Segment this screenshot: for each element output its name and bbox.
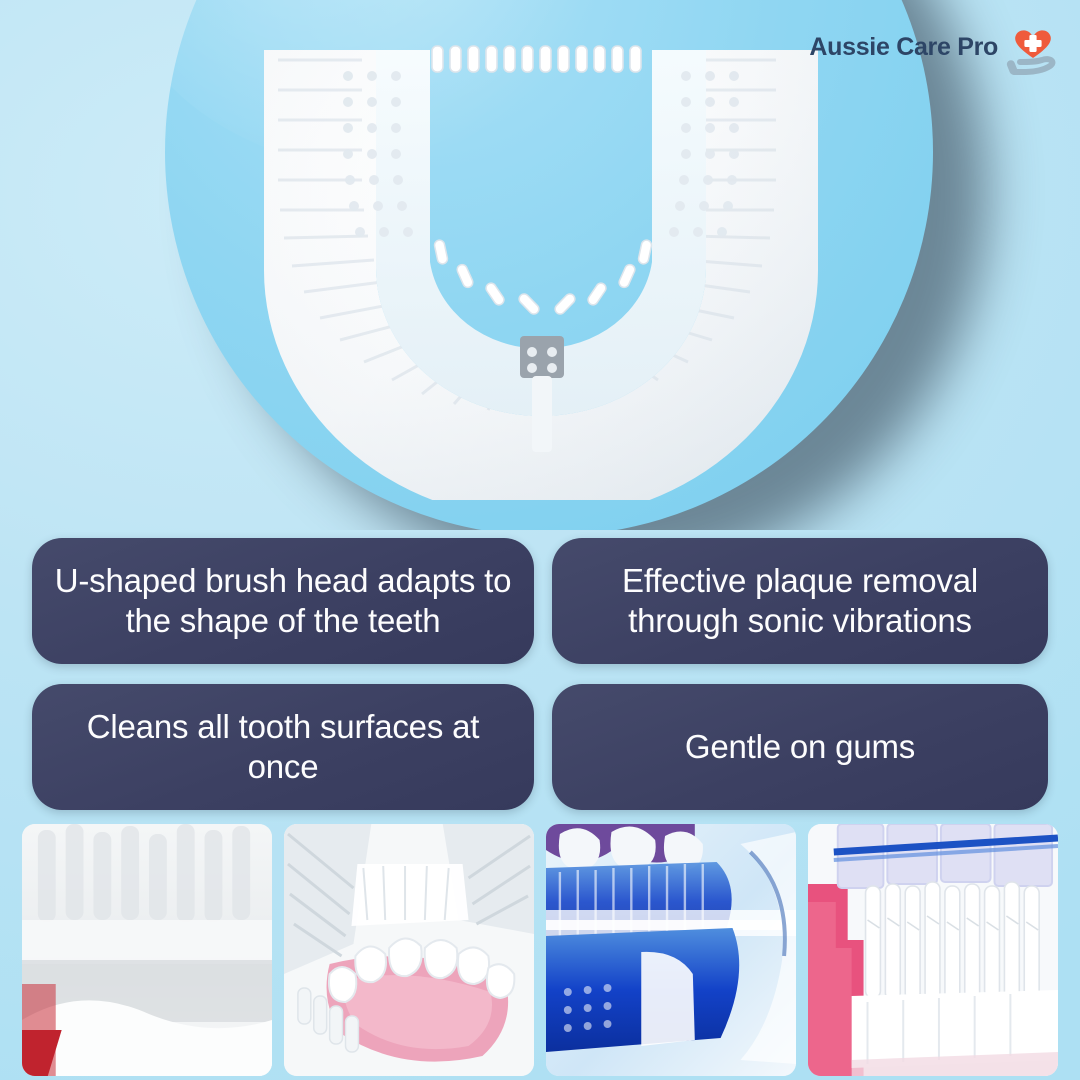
gallery-thumb-3[interactable] xyxy=(546,824,796,1076)
gallery-thumb-2[interactable] xyxy=(284,824,534,1076)
product-infographic: Aussie Care Pro U-shaped brush head adap… xyxy=(0,0,1080,1080)
feature-card-4[interactable]: Gentle on gums xyxy=(552,684,1048,810)
feature-label-4: Gentle on gums xyxy=(685,727,915,767)
feature-list: U-shaped brush head adapts to the shape … xyxy=(32,538,1048,810)
brand-name: Aussie Care Pro xyxy=(809,33,998,62)
blue-sonic-brush-icon xyxy=(546,824,796,1076)
bristles-macro-icon xyxy=(808,824,1058,1076)
brush-connector xyxy=(520,336,564,378)
brush-head-closeup-washed-icon xyxy=(22,824,272,1076)
feature-label-3: Cleans all tooth surfaces at once xyxy=(54,707,512,786)
feature-card-1[interactable]: U-shaped brush head adapts to the shape … xyxy=(32,538,534,664)
gallery-strip xyxy=(22,824,1058,1076)
dental-model-teeth-icon xyxy=(284,824,534,1076)
heart-in-hand-icon xyxy=(1006,20,1060,78)
brush-inner-teeth xyxy=(432,46,641,72)
feature-card-3[interactable]: Cleans all tooth surfaces at once xyxy=(32,684,534,810)
feature-label-2: Effective plaque removal through sonic v… xyxy=(574,561,1026,640)
feature-card-2[interactable]: Effective plaque removal through sonic v… xyxy=(552,538,1048,664)
cross-horizontal xyxy=(1024,40,1041,47)
feature-label-1: U-shaped brush head adapts to the shape … xyxy=(54,561,512,640)
brand-logo: Aussie Care Pro xyxy=(809,18,1060,76)
brush-inner-teeth-curve xyxy=(434,239,653,316)
gallery-thumb-1[interactable] xyxy=(22,824,272,1076)
u-shaped-toothbrush-head xyxy=(236,40,846,500)
gallery-thumb-4[interactable] xyxy=(808,824,1058,1076)
brush-stem xyxy=(532,376,552,452)
hand-shape xyxy=(1014,59,1052,72)
hero-section: Aussie Care Pro xyxy=(0,0,1080,530)
